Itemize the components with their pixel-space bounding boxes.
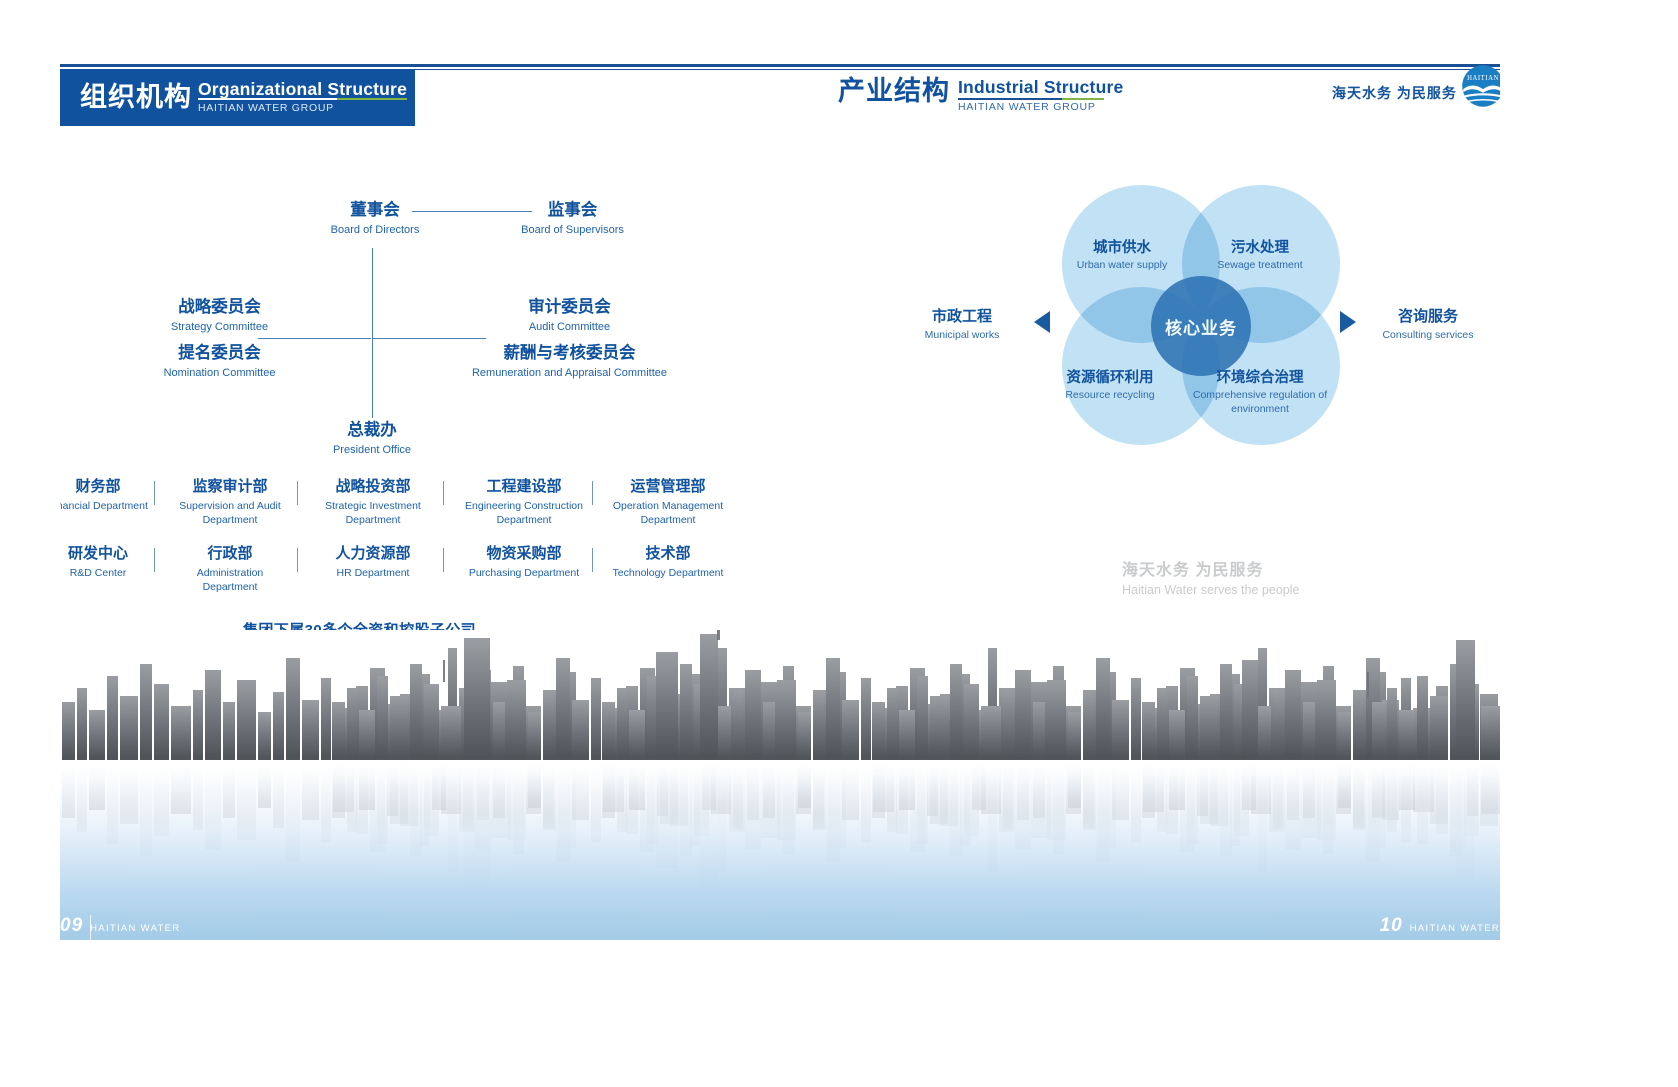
page-number-left: 09 HAITIAN WATER: [60, 915, 180, 937]
dept-hr: 人力资源部 HR Department: [313, 545, 433, 580]
node-title-en: Board of Directors: [310, 223, 440, 238]
org-node-board-of-directors: 董事会 Board of Directors: [310, 200, 440, 237]
industrial-title-en: Industrial Structure: [958, 78, 1123, 97]
industrial-structure-venn: 核心业务 城市供水 Urban water supply 污水处理 Sewage…: [1062, 185, 1340, 445]
node-title-cn: 审计委员会: [472, 297, 667, 318]
connector-spine: [372, 248, 373, 418]
dept-separator: [592, 481, 593, 505]
node-title-cn: 战略委员会: [122, 297, 317, 318]
dept-supervision-audit: 监察审计部 Supervision and Audit Department: [170, 478, 290, 527]
page-number-right: 10 HAITIAN WATER: [1380, 915, 1500, 937]
page-margin-right: [1500, 0, 1678, 1087]
city-skyline-image: [60, 630, 1500, 940]
watermark-cn: 海天水务 为民服务: [1122, 556, 1299, 580]
dept-name-cn: 人力资源部: [313, 545, 433, 563]
dept-name-cn: 监察审计部: [170, 478, 290, 496]
dept-separator: [443, 548, 444, 572]
connector-board-supervisors: [412, 211, 532, 212]
triangle-left-icon: [1034, 311, 1050, 333]
venn-label-cn: 城市供水: [1042, 240, 1202, 257]
dept-engineering-construction: 工程建设部 Engineering Construction Departmen…: [457, 478, 591, 527]
watermark-slogan: 海天水务 为民服务 Haitian Water serves the peopl…: [1122, 556, 1299, 597]
venn-label-en: Urban water supply: [1042, 259, 1202, 273]
venn-label-cn: 资源循环利用: [1030, 370, 1190, 387]
dept-separator: [297, 481, 298, 505]
dept-name-cn: 行政部: [170, 545, 290, 563]
org-chart: 董事会 Board of Directors 监事会 Board of Supe…: [0, 0, 840, 620]
venn-core-label: 核心业务: [1165, 314, 1237, 339]
title-underline: [958, 98, 1104, 100]
org-node-remuneration-committee: 薪酬与考核委员会 Remuneration and Appraisal Comm…: [452, 343, 687, 380]
section-title-industrial-structure: 产业结构 Industrial Structure HAITIAN WATER …: [838, 78, 1123, 113]
dept-technology: 技术部 Technology Department: [605, 545, 731, 580]
page-margin-left: [0, 0, 60, 1087]
side-label-cn: 市政工程: [900, 308, 1024, 326]
node-title-en: Strategy Committee: [122, 320, 317, 335]
org-node-nomination-committee: 提名委员会 Nomination Committee: [122, 343, 317, 380]
dept-operation-management: 运营管理部 Operation Management Department: [605, 478, 731, 527]
dept-purchasing: 物资采购部 Purchasing Department: [457, 545, 591, 580]
brochure-page: 组织机构 Organizational Structure HAITIAN WA…: [0, 0, 1678, 1087]
page-label-left: HAITIAN WATER: [90, 923, 180, 934]
dept-name-cn: 运营管理部: [605, 478, 731, 496]
side-label-en: Municipal works: [900, 329, 1024, 341]
header-slogan: 海天水务 为民服务: [1332, 83, 1457, 103]
dept-separator: [154, 548, 155, 572]
org-node-board-of-supervisors: 监事会 Board of Supervisors: [505, 200, 640, 237]
node-title-cn: 总裁办: [307, 420, 437, 441]
dept-separator: [592, 548, 593, 572]
industrial-left-label: 市政工程 Municipal works: [900, 308, 1024, 341]
page-number-right-value: 10: [1380, 915, 1403, 937]
venn-label-en: Comprehensive regulation of environment: [1180, 389, 1340, 415]
dept-name-cn: 战略投资部: [313, 478, 433, 496]
node-title-cn: 提名委员会: [122, 343, 317, 364]
connector-right-committee: [373, 338, 486, 339]
org-node-audit-committee: 审计委员会 Audit Committee: [472, 297, 667, 334]
dept-name-en: HR Department: [313, 566, 433, 580]
svg-text:HAITIAN: HAITIAN: [1467, 75, 1499, 82]
page-label-right: HAITIAN WATER: [1410, 923, 1500, 934]
dept-name-en: Administration Department: [170, 566, 290, 594]
industrial-right-label: 咨询服务 Consulting services: [1366, 308, 1490, 341]
venn-label-en: Sewage treatment: [1180, 259, 1340, 273]
venn-label-resource-recycling: 资源循环利用 Resource recycling: [1030, 370, 1190, 403]
dept-name-en: Strategic Investment Department: [313, 499, 433, 527]
dept-separator: [154, 481, 155, 505]
dept-name-en: Supervision and Audit Department: [170, 499, 290, 527]
industrial-title-cn: 产业结构: [838, 78, 950, 105]
node-title-en: Audit Committee: [472, 320, 667, 335]
org-node-president-office: 总裁办 President Office: [307, 420, 437, 457]
venn-label-cn: 环境综合治理: [1180, 370, 1340, 387]
industrial-subtitle: HAITIAN WATER GROUP: [958, 101, 1123, 113]
dept-name-cn: 物资采购部: [457, 545, 591, 563]
dept-name-cn: 工程建设部: [457, 478, 591, 496]
node-title-en: Nomination Committee: [122, 366, 317, 381]
page-number-divider: [90, 915, 91, 945]
dept-administration: 行政部 Administration Department: [170, 545, 290, 594]
page-margin-bottom: [0, 945, 1678, 1087]
venn-label-sewage-treatment: 污水处理 Sewage treatment: [1180, 240, 1340, 273]
dept-name-en: Purchasing Department: [457, 566, 591, 580]
connector-left-committee: [258, 338, 371, 339]
venn-label-environment: 环境综合治理 Comprehensive regulation of envir…: [1180, 370, 1340, 416]
dept-name-en: Operation Management Department: [605, 499, 731, 527]
side-label-cn: 咨询服务: [1366, 308, 1490, 326]
node-title-en: Remuneration and Appraisal Committee: [452, 366, 687, 381]
watermark-en: Haitian Water serves the people: [1122, 583, 1299, 597]
dept-separator: [443, 481, 444, 505]
venn-label-cn: 污水处理: [1180, 240, 1340, 257]
dept-separator: [297, 548, 298, 572]
venn-core-circle: 核心业务: [1151, 276, 1251, 376]
node-title-cn: 薪酬与考核委员会: [452, 343, 687, 364]
node-title-en: President Office: [307, 443, 437, 458]
side-label-en: Consulting services: [1366, 329, 1490, 341]
org-node-strategy-committee: 战略委员会 Strategy Committee: [122, 297, 317, 334]
dept-name-en: Engineering Construction Department: [457, 499, 591, 527]
venn-label-urban-water-supply: 城市供水 Urban water supply: [1042, 240, 1202, 273]
node-title-en: Board of Supervisors: [505, 223, 640, 238]
triangle-right-icon: [1340, 311, 1356, 333]
venn-label-en: Resource recycling: [1030, 389, 1190, 403]
dept-strategic-investment: 战略投资部 Strategic Investment Department: [313, 478, 433, 527]
dept-name-cn: 技术部: [605, 545, 731, 563]
page-number-left-value: 09: [60, 915, 83, 937]
dept-name-en: Technology Department: [605, 566, 731, 580]
